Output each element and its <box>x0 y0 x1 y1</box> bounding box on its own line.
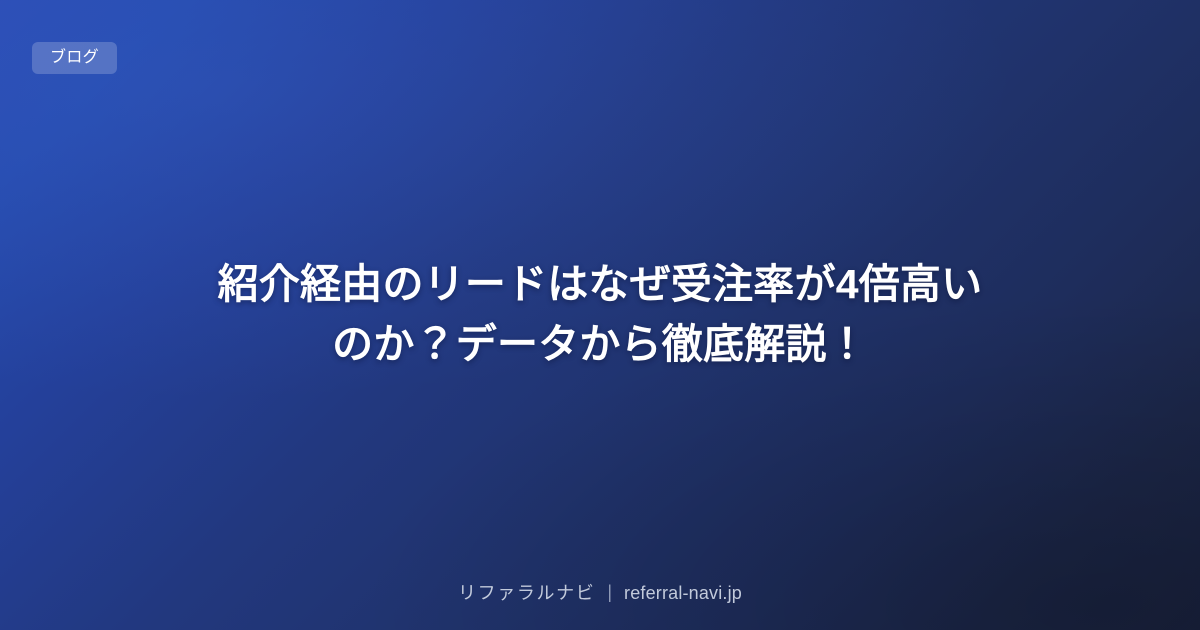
page-title: 紹介経由のリードはなぜ受注率が4倍高いのか？データから徹底解説！ <box>200 255 1000 375</box>
site-name: リファラルナビ <box>458 581 595 606</box>
og-card: ブログ 紹介経由のリードはなぜ受注率が4倍高いのか？データから徹底解説！ リファ… <box>0 0 1200 630</box>
site-url: referral-navi.jp <box>624 581 742 606</box>
title-container: 紹介経由のリードはなぜ受注率が4倍高いのか？データから徹底解説！ <box>0 0 1200 630</box>
footer: リファラルナビ | referral-navi.jp <box>0 581 1200 606</box>
footer-divider: | <box>607 580 612 605</box>
